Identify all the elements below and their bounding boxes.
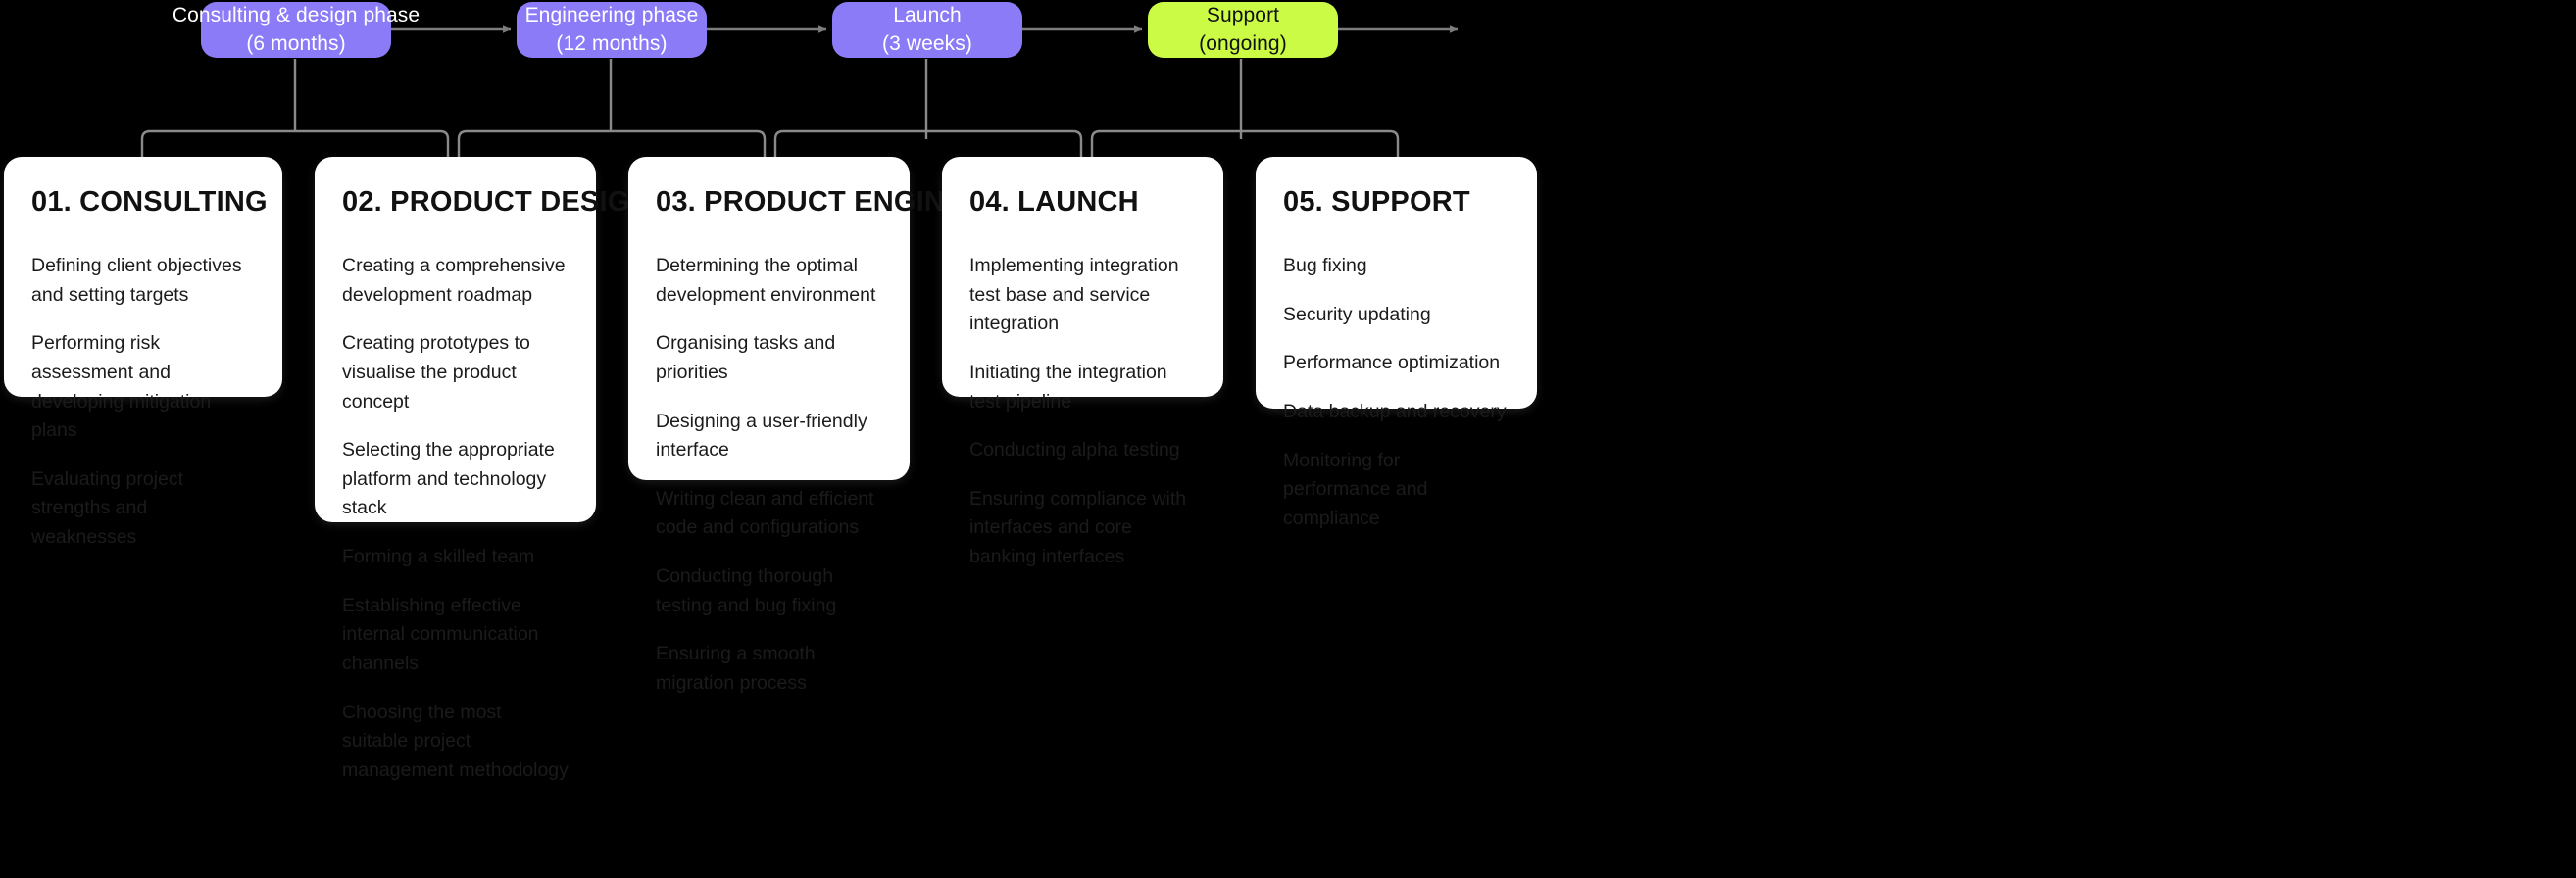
stage-item: Conducting alpha testing — [969, 436, 1196, 465]
diagram-canvas: Consulting & design phase (6 months) Eng… — [0, 0, 2576, 878]
stage-item: Conducting thorough testing and bug fixi… — [656, 562, 882, 620]
stage-card-product-engineering[interactable]: 03. PRODUCT ENGINEERING Determining the … — [628, 157, 910, 480]
stage-item: Designing a user-friendly interface — [656, 408, 882, 465]
stage-item: Creating a comprehensive development roa… — [342, 252, 569, 310]
phase-duration: (ongoing) — [1199, 30, 1287, 59]
stage-item: Ensuring compliance with interfaces and … — [969, 485, 1196, 572]
stage-item: Performance optimization — [1283, 349, 1510, 378]
stage-item: Ensuring a smooth migration process — [656, 640, 882, 698]
phase-duration: (6 months) — [246, 30, 345, 59]
stage-item: Establishing effective internal communic… — [342, 592, 569, 679]
stage-item: Implementing integration test base and s… — [969, 252, 1196, 339]
stage-card-consulting[interactable]: 01. CONSULTING Defining client objective… — [4, 157, 282, 397]
phase-name: Support — [1207, 2, 1279, 30]
phase-duration: (12 months) — [556, 30, 667, 59]
stage-item-list: Bug fixing Security updating Performance… — [1283, 252, 1510, 533]
phase-drop-lines — [295, 59, 1241, 139]
phase-name: Engineering phase — [525, 2, 699, 30]
stage-card-title: 01. CONSULTING — [31, 186, 255, 219]
phase-pill-engineering[interactable]: Engineering phase (12 months) — [517, 2, 707, 58]
stage-item: Security updating — [1283, 301, 1510, 330]
stage-item: Writing clean and efficient code and con… — [656, 485, 882, 543]
stage-item: Forming a skilled team — [342, 543, 569, 572]
stage-card-launch[interactable]: 04. LAUNCH Implementing integration test… — [942, 157, 1223, 397]
phase-pill-launch[interactable]: Launch (3 weeks) — [832, 2, 1022, 58]
stage-item: Determining the optimal development envi… — [656, 252, 882, 310]
stage-card-title: 03. PRODUCT ENGINEERING — [656, 186, 882, 219]
stage-item: Evaluating project strengths and weaknes… — [31, 465, 255, 553]
stage-card-title: 04. LAUNCH — [969, 186, 1196, 219]
stage-item-list: Creating a comprehensive development roa… — [342, 252, 569, 785]
stage-card-title: 02. PRODUCT DESIGN — [342, 186, 569, 219]
stage-item: Bug fixing — [1283, 252, 1510, 281]
stage-item-list: Defining client objectives and setting t… — [31, 252, 255, 553]
stage-item: Data backup and recovery — [1283, 398, 1510, 427]
phase-name: Launch — [893, 2, 962, 30]
phase-name: Consulting & design phase — [173, 2, 420, 30]
phase-pill-support[interactable]: Support (ongoing) — [1148, 2, 1338, 58]
stage-item: Initiating the integration test pipeline — [969, 359, 1196, 416]
stage-item-list: Implementing integration test base and s… — [969, 252, 1196, 572]
stage-item: Defining client objectives and setting t… — [31, 252, 255, 310]
stage-item: Performing risk assessment and developin… — [31, 329, 255, 446]
stage-item: Choosing the most suitable project manag… — [342, 699, 569, 786]
phase-pill-consulting-design[interactable]: Consulting & design phase (6 months) — [201, 2, 391, 58]
stage-item: Monitoring for performance and complianc… — [1283, 447, 1510, 534]
stage-item: Selecting the appropriate platform and t… — [342, 436, 569, 523]
stage-item-list: Determining the optimal development envi… — [656, 252, 882, 699]
stage-card-title: 05. SUPPORT — [1283, 186, 1510, 219]
phase-duration: (3 weeks) — [882, 30, 972, 59]
stage-card-product-design[interactable]: 02. PRODUCT DESIGN Creating a comprehens… — [315, 157, 596, 522]
stage-item: Organising tasks and priorities — [656, 329, 882, 387]
stage-card-support[interactable]: 05. SUPPORT Bug fixing Security updating… — [1256, 157, 1537, 409]
stage-item: Creating prototypes to visualise the pro… — [342, 329, 569, 416]
